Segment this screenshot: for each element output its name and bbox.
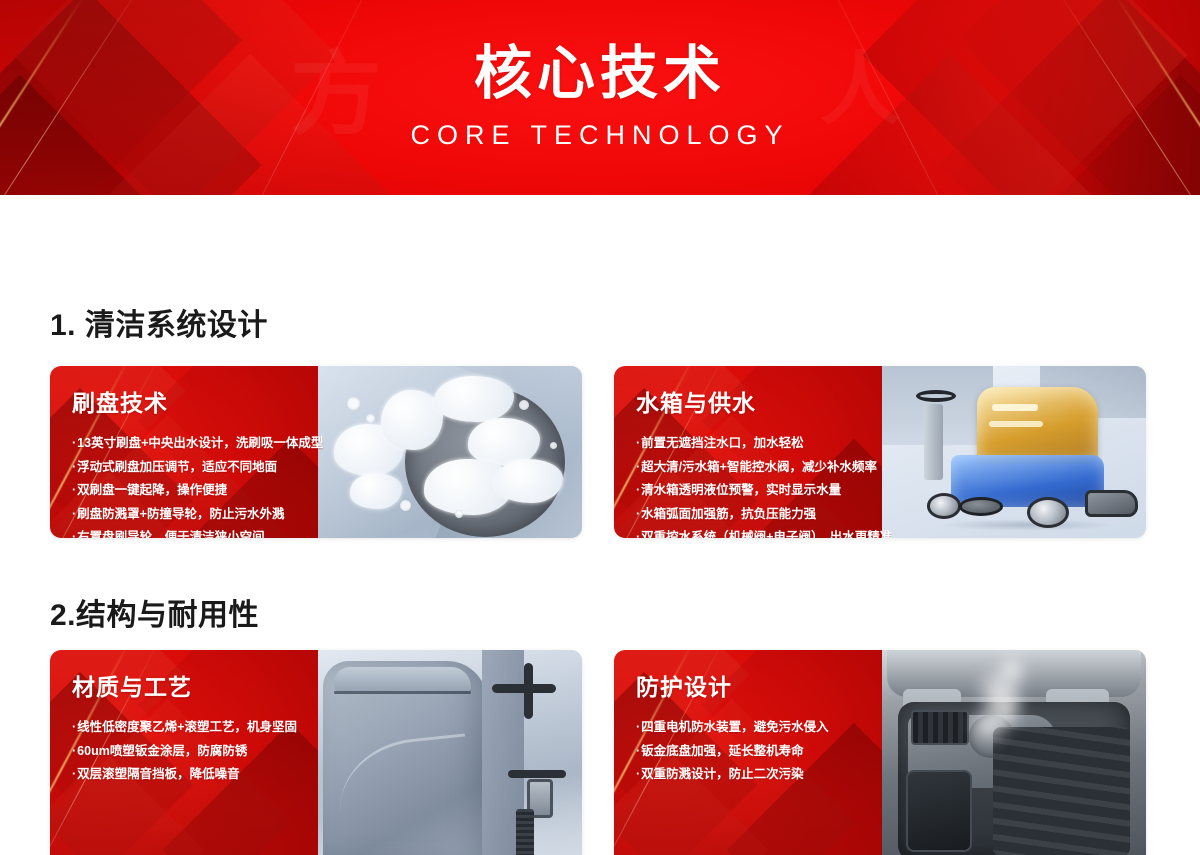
card-content: 材质与工艺 线性低密度聚乙烯+滚塑工艺，机身坚固 60um喷塑钣金涂层，防腐防锈… [72, 668, 574, 787]
list-item: 四重电机防水装置，避免污水侵入 [636, 716, 1138, 740]
card-content: 刷盘技术 13英寸刷盘+中央出水设计，洗刷吸一体成型 浮动式刷盘加压调节，适应不… [72, 384, 574, 538]
list-item: 右置盘刷导轮，便于清洁狭小空间 [72, 526, 574, 538]
page-banner: 方 人 核心技术 CORE TECHNOLOGY [0, 0, 1200, 195]
list-item: 刷盘防溅罩+防撞导轮，防止污水外溅 [72, 503, 574, 527]
card-feature-list: 前置无遮挡注水口，加水轻松 超大清/污水箱+智能控水阀，减少补水频率 清水箱透明… [636, 432, 1138, 538]
card-content: 防护设计 四重电机防水装置，避免污水侵入 钣金底盘加强，延长整机寿命 双重防溅设… [636, 668, 1138, 787]
core-technology-page: 方 人 核心技术 CORE TECHNOLOGY 1. 清洁系统设计 [0, 0, 1200, 855]
list-item: 13英寸刷盘+中央出水设计，洗刷吸一体成型 [72, 432, 574, 456]
card-feature-list: 四重电机防水装置，避免污水侵入 钣金底盘加强，延长整机寿命 双重防溅设计，防止二… [636, 716, 1138, 787]
feature-card-water-tank: 水箱与供水 前置无遮挡注水口，加水轻松 超大清/污水箱+智能控水阀，减少补水频率… [614, 366, 1146, 538]
feature-card-material-process: 材质与工艺 线性低密度聚乙烯+滚塑工艺，机身坚固 60um喷塑钣金涂层，防腐防锈… [50, 650, 582, 855]
card-heading: 刷盘技术 [72, 384, 574, 418]
card-heading: 材质与工艺 [72, 668, 574, 702]
list-item: 钣金底盘加强，延长整机寿命 [636, 740, 1138, 764]
list-item: 60um喷塑钣金涂层，防腐防锈 [72, 740, 574, 764]
card-heading: 防护设计 [636, 668, 1138, 702]
list-item: 双重防溅设计，防止二次污染 [636, 763, 1138, 787]
list-item: 双层滚塑隔音挡板，降低噪音 [72, 763, 574, 787]
section-title-1: 1. 清洁系统设计 [50, 300, 268, 344]
list-item: 水箱弧面加强筋，抗负压能力强 [636, 503, 1138, 527]
list-item: 清水箱透明液位预警，实时显示水量 [636, 479, 1138, 503]
page-title: 核心技术 [474, 44, 726, 105]
section-title-2: 2.结构与耐用性 [50, 590, 259, 634]
page-subtitle: CORE TECHNOLOGY [410, 120, 789, 151]
list-item: 线性低密度聚乙烯+滚塑工艺，机身坚固 [72, 716, 574, 740]
body-grill [516, 809, 534, 855]
list-item: 超大清/污水箱+智能控水阀，减少补水频率 [636, 456, 1138, 480]
list-item: 前置无遮挡注水口，加水轻松 [636, 432, 1138, 456]
banner-text-block: 核心技术 CORE TECHNOLOGY [0, 0, 1200, 195]
card-heading: 水箱与供水 [636, 384, 1138, 418]
card-feature-list: 线性低密度聚乙烯+滚塑工艺，机身坚固 60um喷塑钣金涂层，防腐防锈 双层滚塑隔… [72, 716, 574, 787]
card-feature-list: 13英寸刷盘+中央出水设计，洗刷吸一体成型 浮动式刷盘加压调节，适应不同地面 双… [72, 432, 574, 538]
feature-card-protection-design: 防护设计 四重电机防水装置，避免污水侵入 钣金底盘加强，延长整机寿命 双重防溅设… [614, 650, 1146, 855]
card-content: 水箱与供水 前置无遮挡注水口，加水轻松 超大清/污水箱+智能控水阀，减少补水频率… [636, 384, 1138, 538]
list-item: 浮动式刷盘加压调节，适应不同地面 [72, 456, 574, 480]
feature-card-brush-technology: 刷盘技术 13英寸刷盘+中央出水设计，洗刷吸一体成型 浮动式刷盘加压调节，适应不… [50, 366, 582, 538]
list-item: 双重控水系统（机械阀+电子阀），出水更精准 [636, 526, 1138, 538]
list-item: 双刷盘一键起降，操作便捷 [72, 479, 574, 503]
